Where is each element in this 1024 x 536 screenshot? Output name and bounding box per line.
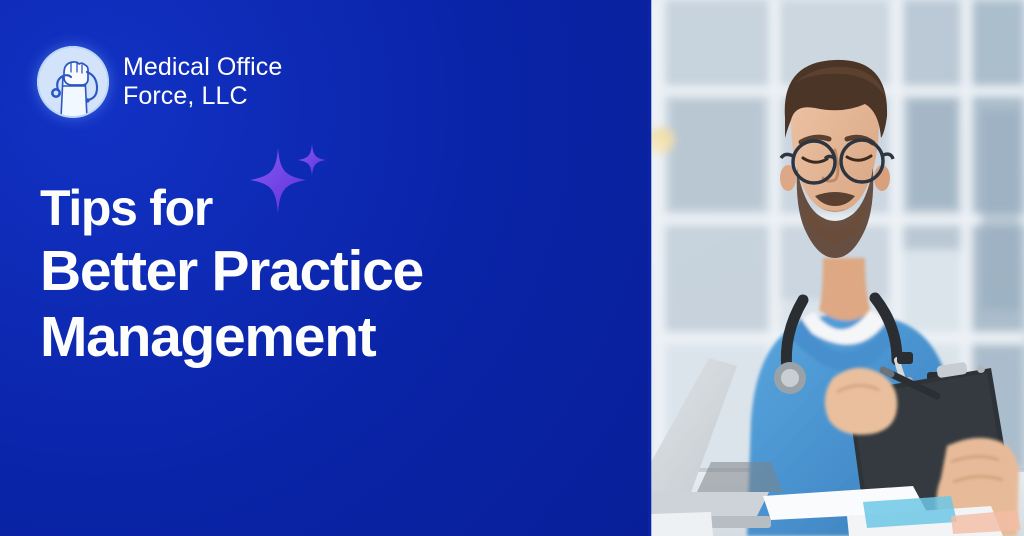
raised-fist-stethoscope-icon: [37, 46, 109, 118]
brand-logo[interactable]: Medical Office Force, LLC: [37, 46, 282, 118]
left-content-panel: Medical Office Force, LLC: [0, 0, 651, 536]
four-point-sparkle-small-icon: [298, 144, 326, 176]
brand-name: Medical Office Force, LLC: [123, 53, 282, 111]
headline-line-1: Tips for: [40, 178, 620, 238]
headline-line-3: Management: [40, 304, 620, 370]
hero-photo: [651, 0, 1024, 536]
page-title: Tips for Better Practice Management: [40, 178, 620, 370]
blog-header-banner: Medical Office Force, LLC: [0, 0, 1024, 536]
panel-edge-divider: [648, 0, 652, 536]
doctor-at-desk-illustration: [651, 0, 1024, 536]
headline-line-2: Better Practice: [40, 238, 620, 304]
